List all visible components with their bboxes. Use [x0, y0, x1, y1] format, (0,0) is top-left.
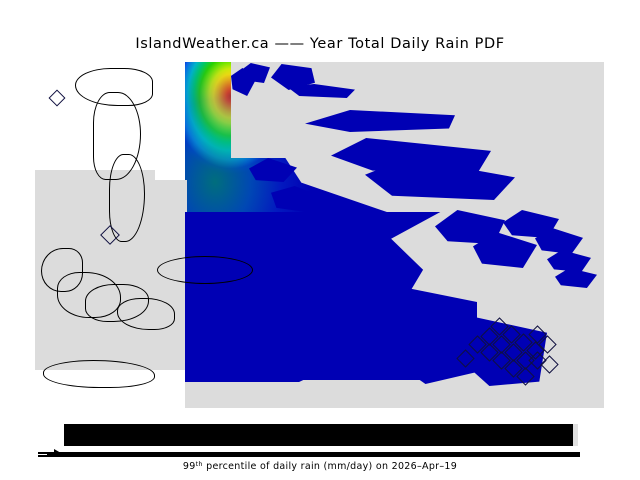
colorbar-tick-band: [47, 452, 580, 457]
colorbar[interactable]: [64, 424, 578, 446]
rain-raster-layer: [185, 62, 604, 392]
caption-text: percentile of daily rain (mm/day) on 202…: [203, 461, 457, 472]
colorbar-over-swatch: [573, 424, 578, 446]
page-title: IslandWeather.ca —— Year Total Daily Rai…: [0, 36, 640, 52]
figure-root: IslandWeather.ca —— Year Total Daily Rai…: [0, 0, 640, 480]
caption-percentile: 99: [183, 461, 196, 472]
caption-percentile-suffix: th: [196, 460, 203, 468]
map-panel[interactable]: [35, 62, 604, 408]
outside-domain-region-lower: [35, 362, 165, 408]
colorbar-gradient: [64, 424, 573, 446]
figure-caption: 99th percentile of daily rain (mm/day) o…: [0, 460, 640, 472]
outside-domain-region: [35, 62, 185, 408]
